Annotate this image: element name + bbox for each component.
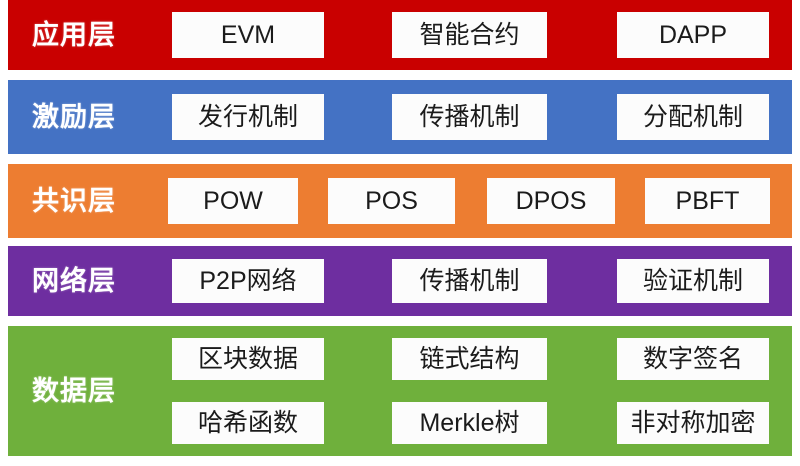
item-box-dpos[interactable]: DPOS — [487, 178, 615, 224]
layer-label-data: 数据层 — [8, 378, 140, 405]
item-row: EVM 智能合约 DAPP — [140, 0, 792, 70]
item-box-allocation-mechanism[interactable]: 分配机制 — [617, 94, 769, 140]
item-box-issuance-mechanism[interactable]: 发行机制 — [172, 94, 324, 140]
item-box-hash-function[interactable]: 哈希函数 — [172, 402, 324, 444]
layer-label-consensus: 共识层 — [8, 188, 140, 215]
item-box-chain-structure[interactable]: 链式结构 — [392, 338, 547, 380]
layer-items-network: P2P网络 传播机制 验证机制 — [140, 246, 792, 316]
item-box-pow[interactable]: POW — [168, 178, 298, 224]
item-row: 哈希函数 Merkle树 非对称加密 — [140, 402, 792, 444]
item-box-evm[interactable]: EVM — [172, 12, 324, 58]
item-row: 发行机制 传播机制 分配机制 — [140, 80, 792, 154]
layer-label-incentive: 激励层 — [8, 104, 140, 131]
layer-items-incentive: 发行机制 传播机制 分配机制 — [140, 80, 792, 154]
layer-items-data: 区块数据 链式结构 数字签名 哈希函数 Merkle树 非对称加密 — [140, 316, 792, 466]
item-box-dapp[interactable]: DAPP — [617, 12, 769, 58]
item-row: 区块数据 链式结构 数字签名 — [140, 338, 792, 380]
layer-data: 数据层 区块数据 链式结构 数字签名 哈希函数 Merkle树 非对称加密 — [8, 326, 792, 456]
item-box-distribution-mechanism[interactable]: 传播机制 — [392, 94, 547, 140]
layer-incentive: 激励层 发行机制 传播机制 分配机制 — [8, 80, 792, 154]
layer-label-application: 应用层 — [8, 22, 140, 49]
item-row: POW POS DPOS PBFT — [140, 164, 792, 238]
item-box-pbft[interactable]: PBFT — [645, 178, 770, 224]
item-box-asymmetric-encryption[interactable]: 非对称加密 — [617, 402, 769, 444]
item-box-pos[interactable]: POS — [328, 178, 455, 224]
item-box-verification-mechanism[interactable]: 验证机制 — [617, 259, 769, 303]
item-row: P2P网络 传播机制 验证机制 — [140, 246, 792, 316]
layer-consensus: 共识层 POW POS DPOS PBFT — [8, 164, 792, 238]
item-box-propagation-mechanism[interactable]: 传播机制 — [392, 259, 547, 303]
item-box-block-data[interactable]: 区块数据 — [172, 338, 324, 380]
layer-label-network: 网络层 — [8, 268, 140, 295]
layer-items-consensus: POW POS DPOS PBFT — [140, 164, 792, 238]
item-box-merkle-tree[interactable]: Merkle树 — [392, 402, 547, 444]
layer-network: 网络层 P2P网络 传播机制 验证机制 — [8, 246, 792, 316]
item-box-p2p-network[interactable]: P2P网络 — [172, 259, 324, 303]
layer-items-application: EVM 智能合约 DAPP — [140, 0, 792, 70]
layer-application: 应用层 EVM 智能合约 DAPP — [8, 0, 792, 70]
blockchain-architecture-diagram: 应用层 EVM 智能合约 DAPP 激励层 发行机制 传播机制 分配机制 共识层… — [0, 0, 800, 464]
item-box-smart-contract[interactable]: 智能合约 — [392, 12, 547, 58]
item-box-digital-signature[interactable]: 数字签名 — [617, 338, 769, 380]
